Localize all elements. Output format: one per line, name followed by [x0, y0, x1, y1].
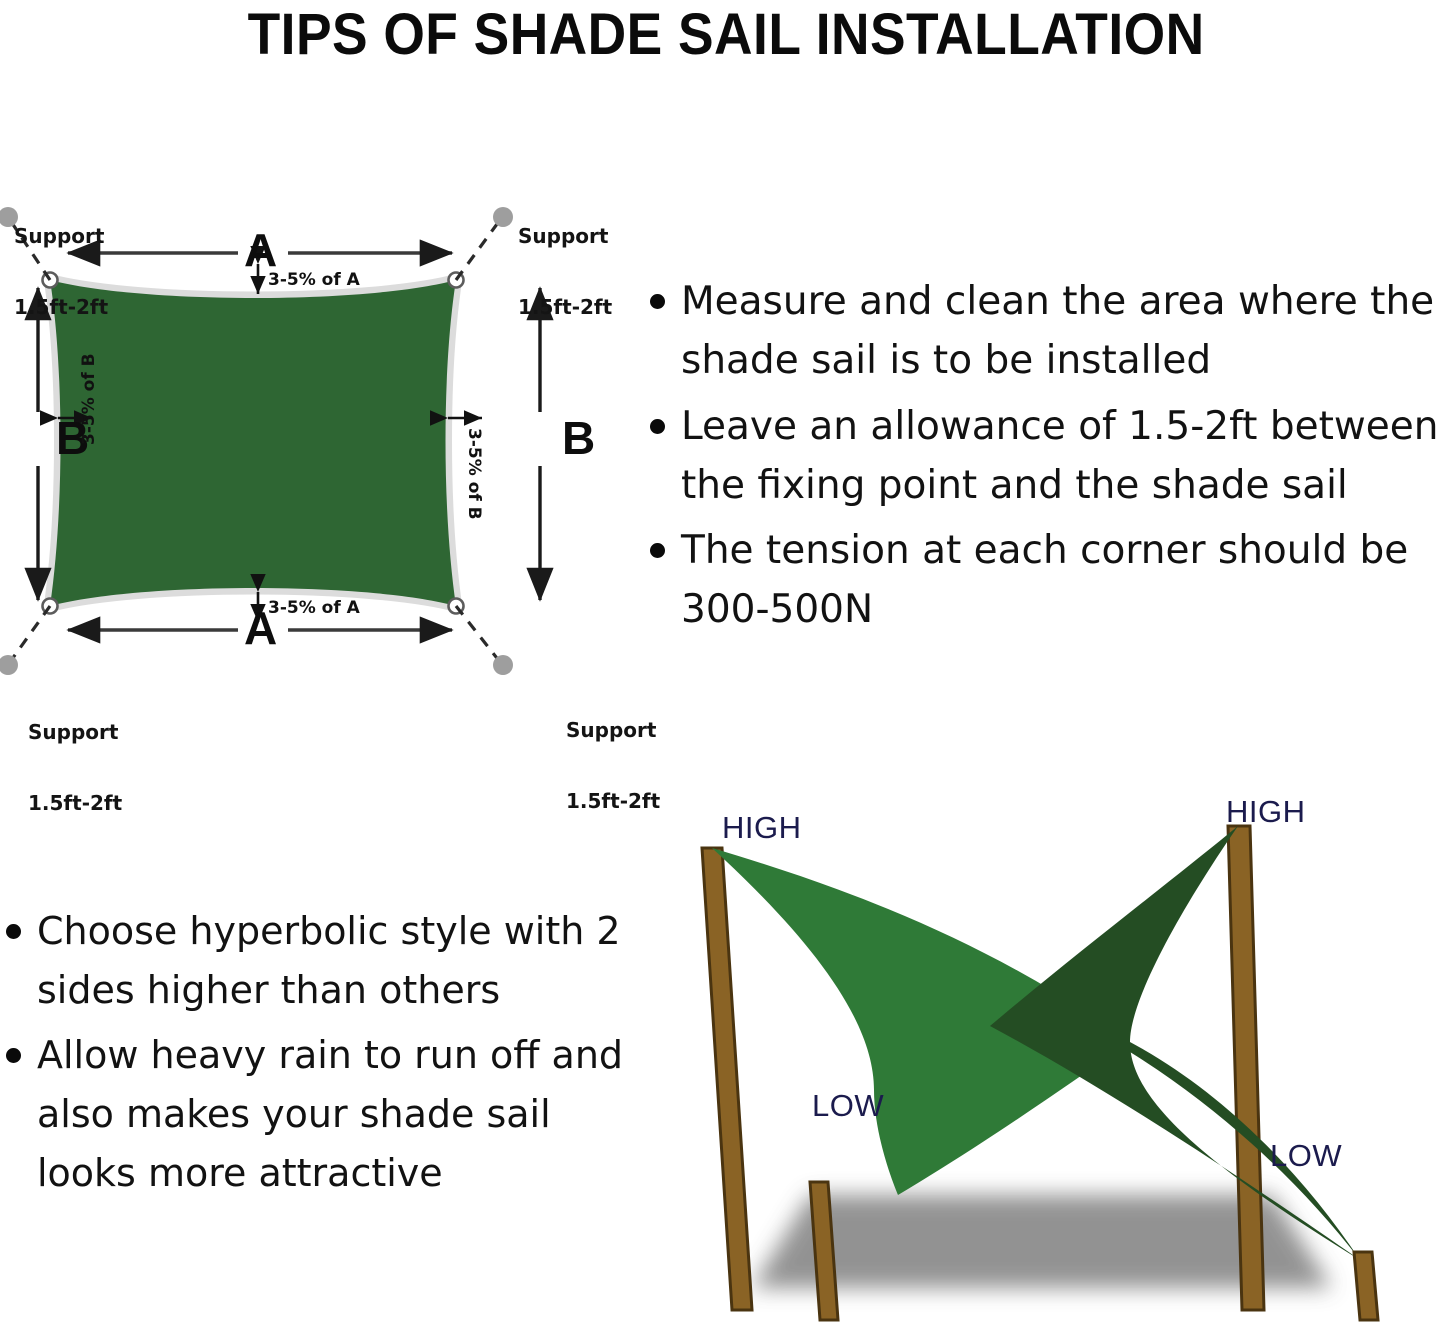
tip-text: Choose hyperbolic style with 2 sides hig…: [37, 902, 630, 1020]
support-line-top-right: [456, 220, 500, 280]
support-label-line1: Support: [518, 225, 612, 249]
support-label-top-right: Support 1.5ft-2ft: [518, 178, 612, 367]
tip-text: Allow heavy rain to run off and also mak…: [37, 1026, 630, 1203]
support-label-bottom-right: Support 1.5ft-2ft: [566, 672, 660, 861]
support-label-top-left: Support 1.5ft-2ft: [14, 178, 108, 367]
list-item: Measure and clean the area where the sha…: [650, 272, 1450, 391]
support-label-line1: Support: [14, 225, 108, 249]
pole-high-left: [702, 848, 752, 1310]
support-dot-bottom-left: [0, 655, 18, 675]
support-label-line1: Support: [566, 719, 660, 743]
curvature-label-left: 3-5% of B: [81, 353, 98, 445]
curvature-label-bottom: 3-5% of A: [268, 600, 360, 617]
label-high-right: HIGH: [1226, 796, 1306, 827]
sail-fabric: [50, 280, 456, 606]
list-item: Allow heavy rain to run off and also mak…: [0, 1026, 630, 1203]
installation-tips-list: Measure and clean the area where the sha…: [650, 272, 1450, 646]
dimension-label-B-right: B: [562, 415, 595, 461]
hyperbolic-sail-diagram: HIGH HIGH LOW LOW: [660, 790, 1452, 1325]
bullet-point-icon: [650, 543, 665, 558]
pole-low-right: [1354, 1252, 1378, 1320]
support-line-bottom-left: [10, 606, 50, 662]
support-dot-top-right: [493, 207, 513, 227]
label-low-left: LOW: [812, 1090, 884, 1121]
bullet-point-icon: [650, 294, 665, 309]
label-low-right: LOW: [1270, 1140, 1342, 1171]
bullet-point-icon: [6, 1048, 21, 1063]
tip-text: Leave an allowance of 1.5-2ft between th…: [681, 397, 1450, 516]
curvature-label-top: 3-5% of A: [268, 272, 360, 289]
list-item: The tension at each corner should be 300…: [650, 521, 1450, 640]
hyperbolic-sail-svg: [660, 790, 1452, 1325]
rectangular-sail-diagram: Support 1.5ft-2ft Support 1.5ft-2ft Supp…: [0, 160, 660, 740]
support-label-bottom-left: Support 1.5ft-2ft: [28, 674, 122, 863]
support-label-line2: 1.5ft-2ft: [14, 296, 108, 320]
support-label-line2: 1.5ft-2ft: [518, 296, 612, 320]
support-label-line1: Support: [28, 721, 122, 745]
label-high-left: HIGH: [722, 812, 802, 843]
support-label-line2: 1.5ft-2ft: [566, 790, 660, 814]
bullet-point-icon: [6, 924, 21, 939]
curvature-label-right: 3-5% of B: [465, 428, 482, 520]
tip-text: The tension at each corner should be 300…: [681, 521, 1450, 640]
list-item: Leave an allowance of 1.5-2ft between th…: [650, 397, 1450, 516]
support-label-line2: 1.5ft-2ft: [28, 792, 122, 816]
title-bar: TIPS OF SHADE SAIL INSTALLATION: [0, 0, 1452, 70]
list-item: Choose hyperbolic style with 2 sides hig…: [0, 902, 630, 1020]
dimension-label-A-top: A: [244, 227, 277, 273]
hyperbolic-style-tips-list: Choose hyperbolic style with 2 sides hig…: [0, 902, 630, 1208]
support-line-bottom-right: [456, 606, 500, 662]
bullet-point-icon: [650, 419, 665, 434]
support-dot-bottom-right: [493, 655, 513, 675]
tip-text: Measure and clean the area where the sha…: [681, 272, 1450, 391]
page-title: TIPS OF SHADE SAIL INSTALLATION: [248, 6, 1205, 64]
